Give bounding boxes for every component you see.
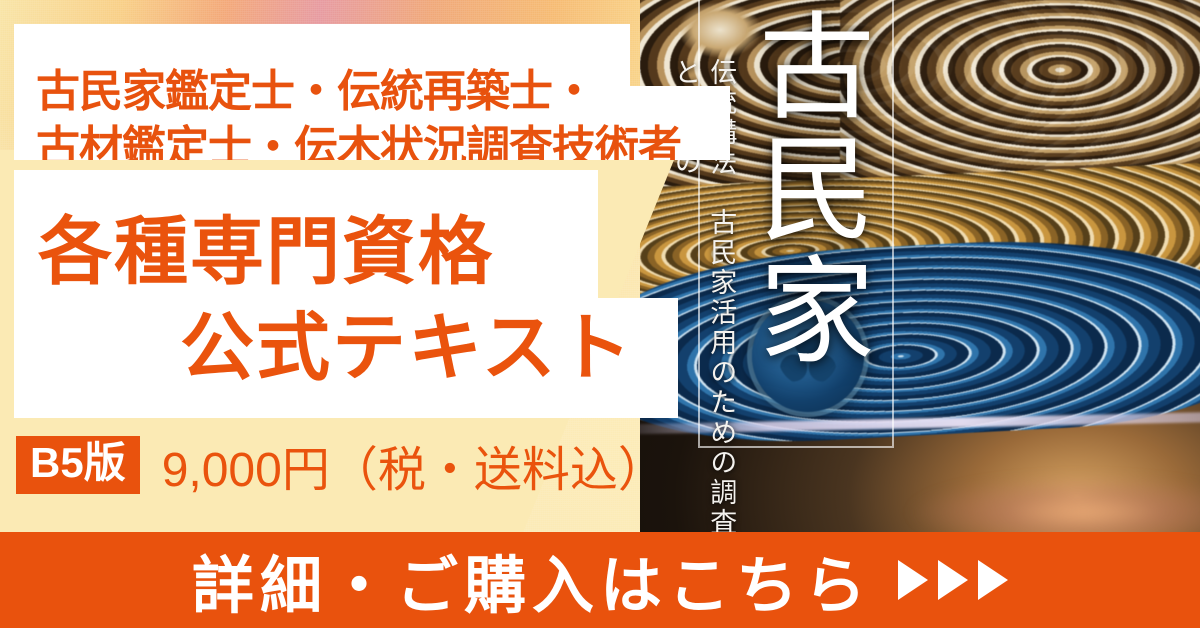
cover-photo-carved-wood-detail <box>840 0 1200 180</box>
play-arrow-icon <box>938 560 968 600</box>
headline-line-2: 公式テキスト <box>180 288 634 395</box>
headline-line-1: 各種専門資格 <box>38 192 494 299</box>
price-amount: 9,000円（税・送料込） <box>162 430 666 500</box>
cta-bar[interactable]: 詳細・ご購入はこちら <box>0 532 1200 628</box>
cta-arrow-group <box>898 560 1008 600</box>
qualifications-line-1: 古民家鑑定士・伝統再築士・ <box>36 55 595 119</box>
cover-photo-warm-glow <box>840 400 1200 540</box>
play-arrow-icon <box>978 560 1008 600</box>
qualifications-panel: 古民家鑑定士・伝統再築士・ 古材鑑定士・伝木状況調査技術者 <box>14 24 730 160</box>
play-arrow-icon <box>898 560 928 600</box>
promotional-banner: 古民家 伝統構法 古民家活用のための調査と再生の 古民家鑑定士・伝統再築士・ 古… <box>0 0 1200 628</box>
cta-label: 詳細・ご購入はこちら <box>192 535 872 625</box>
book-cover-image: 古民家 伝統構法 古民家活用のための調査と再生の <box>640 0 1200 540</box>
headline-panel: 各種専門資格 公式テキスト <box>14 170 678 418</box>
format-badge: B5版 <box>16 436 140 494</box>
book-cover-title: 古民家 <box>736 6 873 372</box>
price-row: B5版 9,000円（税・送料込） <box>16 430 666 500</box>
